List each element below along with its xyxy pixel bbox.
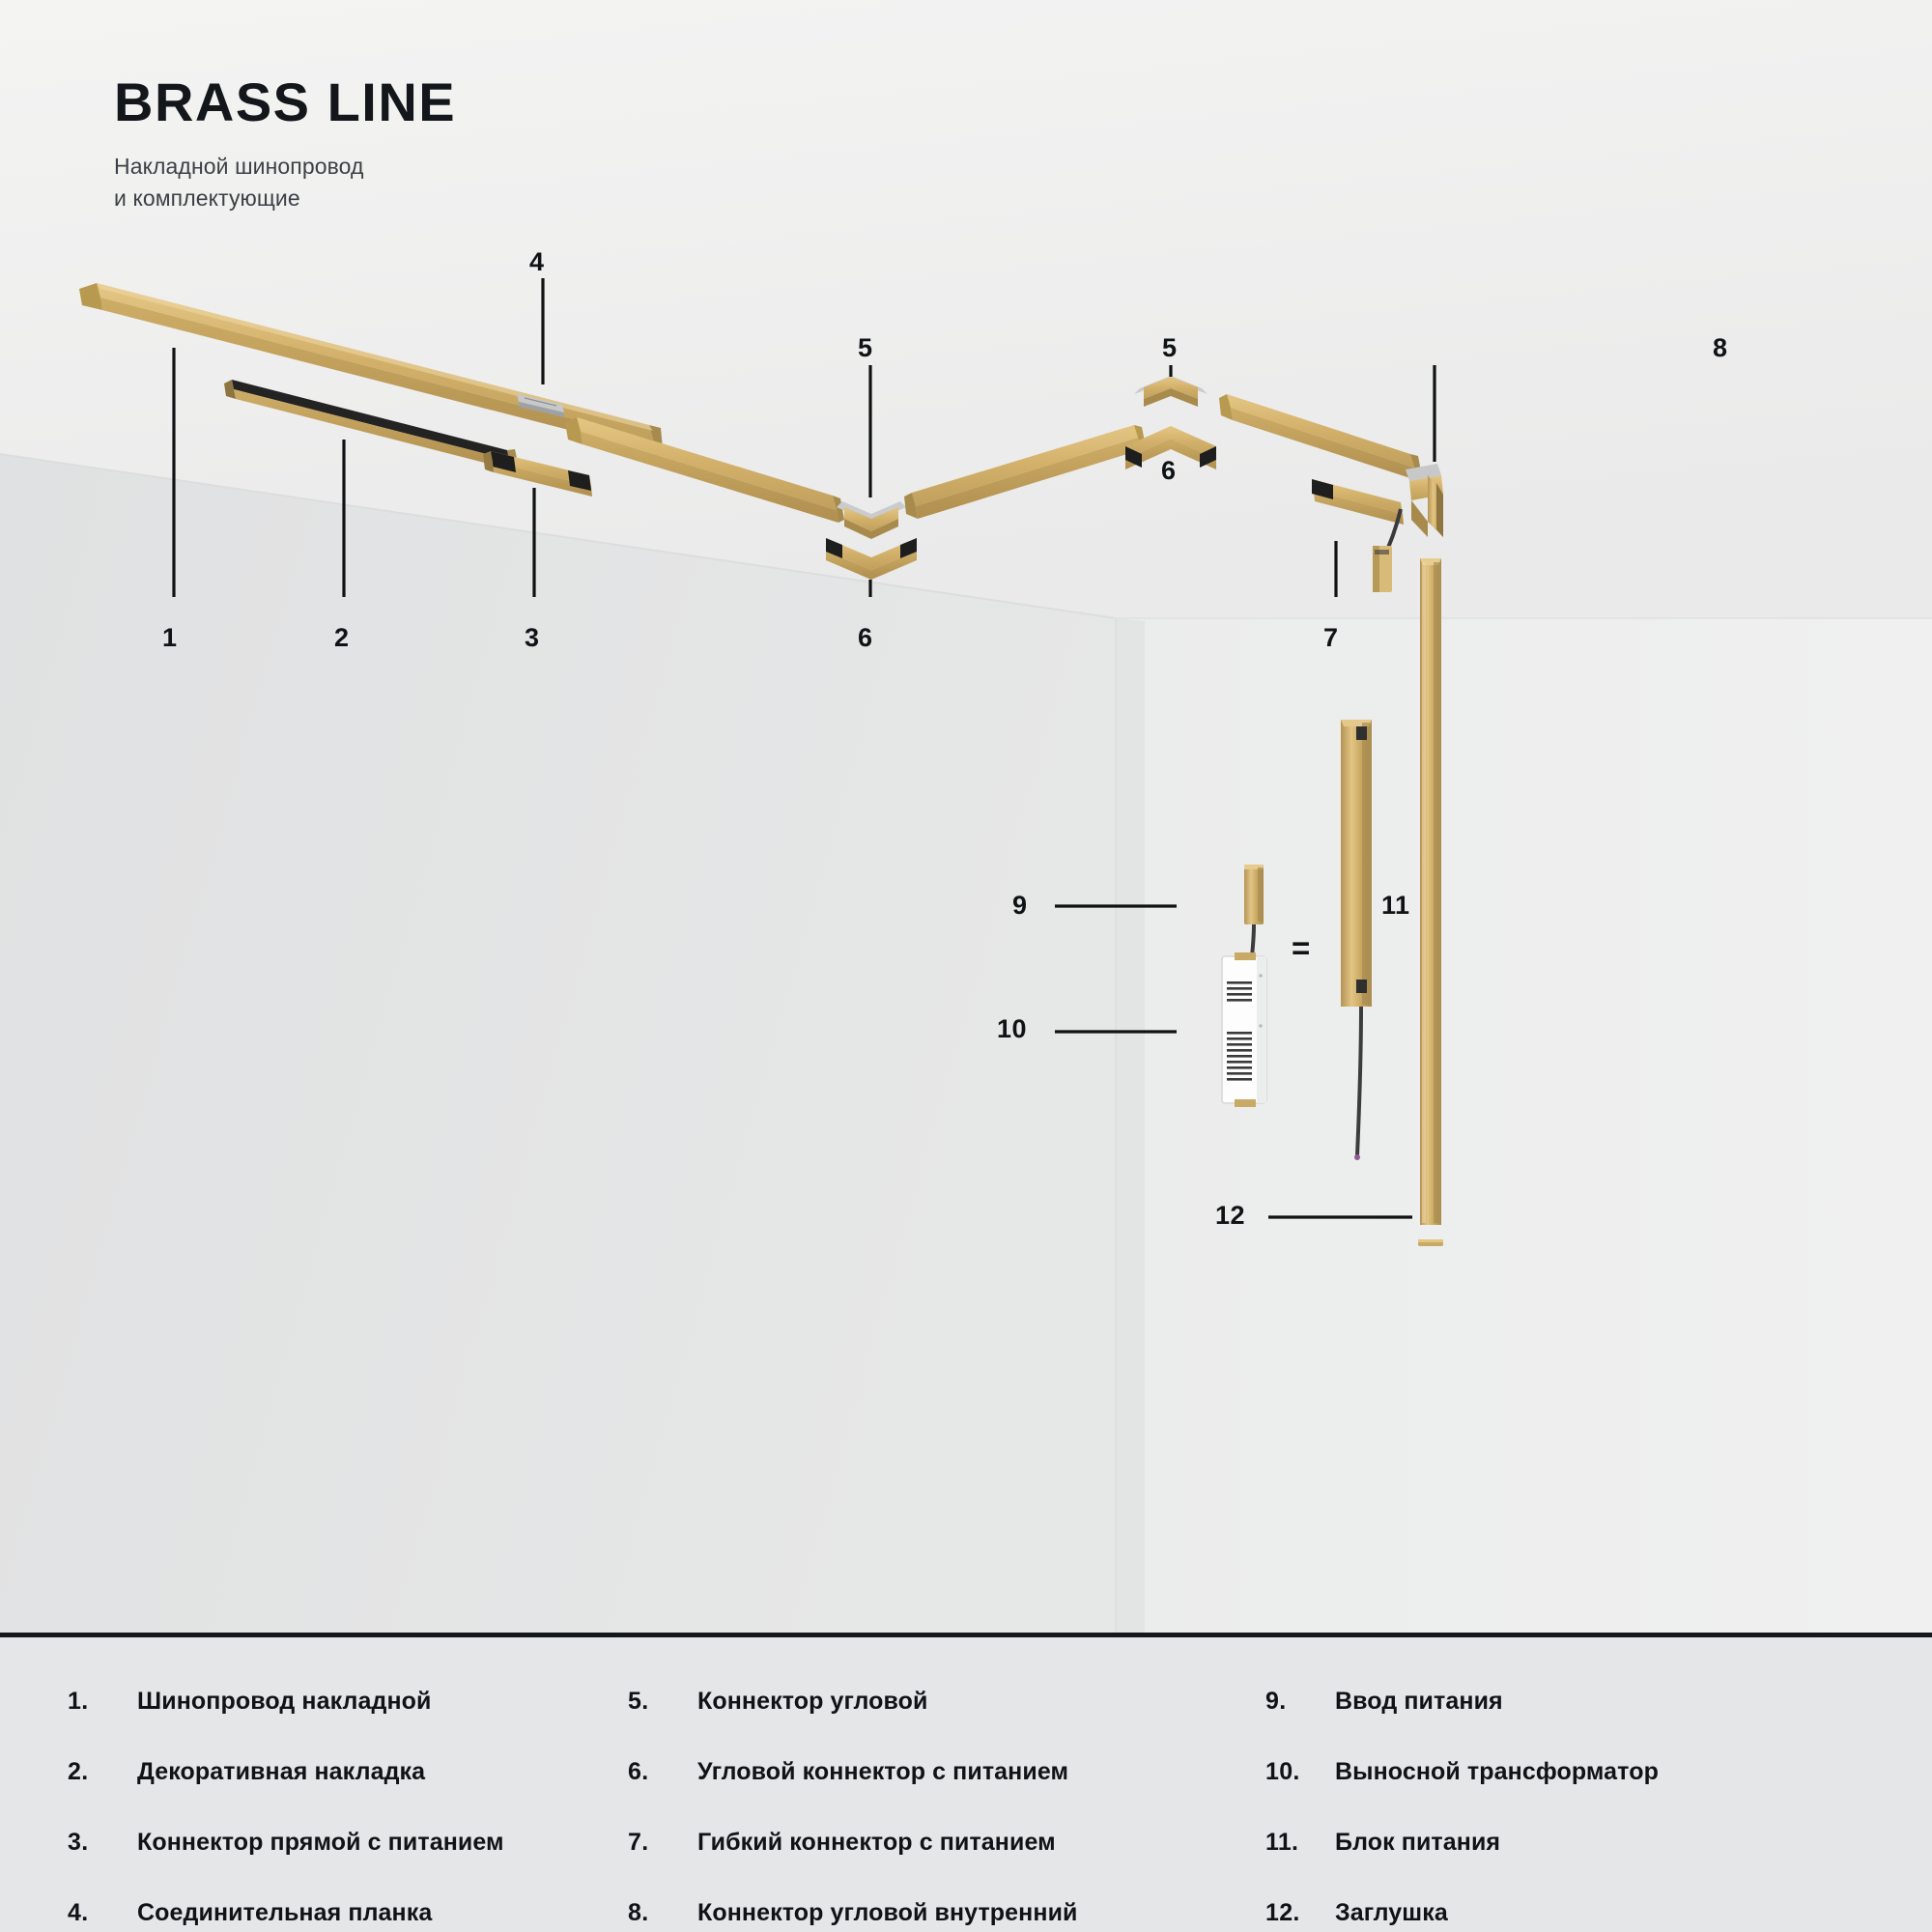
legend-item: 4. Соединительная планка — [68, 1899, 628, 1927]
legend-label: Коннектор угловой — [697, 1688, 927, 1716]
legend-column-2: 5. Коннектор угловой 6. Угловой коннекто… — [628, 1688, 1265, 1927]
legend-panel: 1. Шинопровод накладной 2. Декоративная … — [0, 1633, 1932, 1932]
vertical-rail — [1420, 558, 1441, 1225]
legend-label: Ввод питания — [1335, 1688, 1503, 1716]
legend-number: 8. — [628, 1899, 697, 1927]
legend-item: 10. Выносной трансформатор — [1265, 1758, 1864, 1786]
callout-5b: 5 — [1162, 333, 1178, 363]
legend-number: 4. — [68, 1899, 137, 1927]
callout-4: 4 — [529, 247, 545, 277]
legend-label: Соединительная планка — [137, 1899, 432, 1927]
legend-item: 3. Коннектор прямой с питанием — [68, 1829, 628, 1857]
legend-number: 10. — [1265, 1758, 1335, 1786]
callout-3: 3 — [525, 623, 540, 653]
callout-11: 11 — [1381, 891, 1410, 921]
legend-number: 12. — [1265, 1899, 1335, 1927]
callout-8: 8 — [1713, 333, 1728, 363]
callout-12: 12 — [1215, 1201, 1245, 1231]
callout-7: 7 — [1323, 623, 1339, 653]
legend-item: 6. Угловой коннектор с питанием — [628, 1758, 1265, 1786]
legend-label: Декоративная накладка — [137, 1758, 425, 1786]
page-title: BRASS LINE — [114, 75, 456, 129]
equals-sign: = — [1292, 930, 1310, 967]
callout-5a: 5 — [858, 333, 873, 363]
legend-item: 12. Заглушка — [1265, 1899, 1864, 1927]
subtitle-line-2: и комплектующие — [114, 183, 456, 214]
legend-label: Заглушка — [1335, 1899, 1448, 1927]
room-illustration — [0, 0, 1932, 1633]
legend-label: Шинопровод накладной — [137, 1688, 432, 1716]
legend-item: 2. Декоративная накладка — [68, 1758, 628, 1786]
legend-number: 2. — [68, 1758, 137, 1786]
legend-label: Блок питания — [1335, 1829, 1500, 1857]
product-scene: BRASS LINE Накладной шинопровод и компле… — [0, 0, 1932, 1633]
legend-column-3: 9. Ввод питания 10. Выносной трансформат… — [1265, 1688, 1864, 1927]
legend-number: 5. — [628, 1688, 697, 1716]
legend-item: 1. Шинопровод накладной — [68, 1688, 628, 1716]
callout-2: 2 — [334, 623, 350, 653]
callout-10: 10 — [997, 1014, 1027, 1044]
callout-6a: 6 — [858, 623, 873, 653]
right-wall — [1116, 618, 1932, 1633]
legend-label: Угловой коннектор с питанием — [697, 1758, 1068, 1786]
legend-number: 9. — [1265, 1688, 1335, 1716]
legend-number: 11. — [1265, 1829, 1335, 1857]
legend-label: Выносной трансформатор — [1335, 1758, 1659, 1786]
legend-item: 7. Гибкий коннектор с питанием — [628, 1829, 1265, 1857]
legend-column-1: 1. Шинопровод накладной 2. Декоративная … — [68, 1688, 628, 1927]
legend-number: 3. — [68, 1829, 137, 1857]
callout-1: 1 — [162, 623, 178, 653]
header-block: BRASS LINE Накладной шинопровод и компле… — [114, 75, 456, 213]
legend-item: 5. Коннектор угловой — [628, 1688, 1265, 1716]
legend-label: Коннектор прямой с питанием — [137, 1829, 504, 1857]
legend-number: 1. — [68, 1688, 137, 1716]
page-subtitle: Накладной шинопровод и комплектующие — [114, 151, 456, 213]
end-cap — [1418, 1239, 1443, 1246]
legend-item: 9. Ввод питания — [1265, 1688, 1864, 1716]
legend-number: 7. — [628, 1829, 697, 1857]
legend-label: Коннектор угловой внутренний — [697, 1899, 1078, 1927]
callout-9: 9 — [1012, 891, 1028, 921]
remote-transformer — [1222, 952, 1266, 1107]
legend-item: 11. Блок питания — [1265, 1829, 1864, 1857]
subtitle-line-1: Накладной шинопровод — [114, 151, 456, 183]
legend-label: Гибкий коннектор с питанием — [697, 1829, 1056, 1857]
legend-item: 8. Коннектор угловой внутренний — [628, 1899, 1265, 1927]
room-geometry — [0, 0, 1932, 1633]
legend-number: 6. — [628, 1758, 697, 1786]
callout-6b: 6 — [1161, 456, 1177, 486]
